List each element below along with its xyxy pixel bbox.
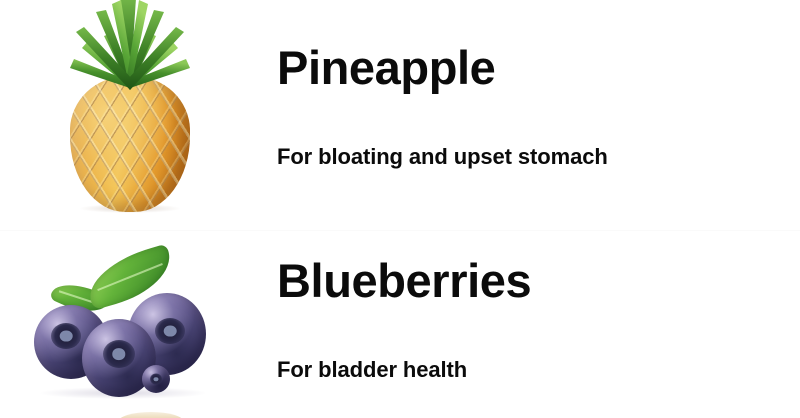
blueberry bbox=[142, 365, 170, 393]
partial-fruit-illustration bbox=[118, 412, 184, 418]
list-item[interactable]: Pineapple For bloating and upset stomach bbox=[0, 0, 800, 230]
list-item-partial[interactable] bbox=[0, 412, 800, 418]
pineapple-text-cell: Pineapple For bloating and upset stomach bbox=[248, 0, 800, 230]
item-subtitle: For bloating and upset stomach bbox=[277, 146, 608, 168]
fruit-benefits-list: Pineapple For bloating and upset stomach… bbox=[0, 0, 800, 418]
list-item[interactable]: Blueberries For bladder health bbox=[0, 231, 800, 412]
item-title: Blueberries bbox=[277, 257, 531, 304]
blueberries-text-cell: Blueberries For bladder health bbox=[248, 231, 800, 412]
pineapple-crown-icon bbox=[62, 0, 198, 92]
pineapple-illustration bbox=[62, 0, 198, 218]
item-title: Pineapple bbox=[277, 44, 495, 91]
blueberry-calyx bbox=[103, 340, 135, 368]
blueberry-calyx bbox=[51, 323, 81, 349]
partial-thumbnail-cell bbox=[0, 412, 248, 418]
pineapple-thumbnail-cell bbox=[0, 0, 248, 230]
blueberries-illustration bbox=[30, 249, 218, 401]
blueberry-calyx bbox=[155, 318, 185, 344]
blueberry-calyx bbox=[150, 374, 162, 385]
blueberries-thumbnail-cell bbox=[0, 231, 248, 412]
pineapple-body bbox=[70, 76, 190, 212]
item-subtitle: For bladder health bbox=[277, 359, 467, 381]
